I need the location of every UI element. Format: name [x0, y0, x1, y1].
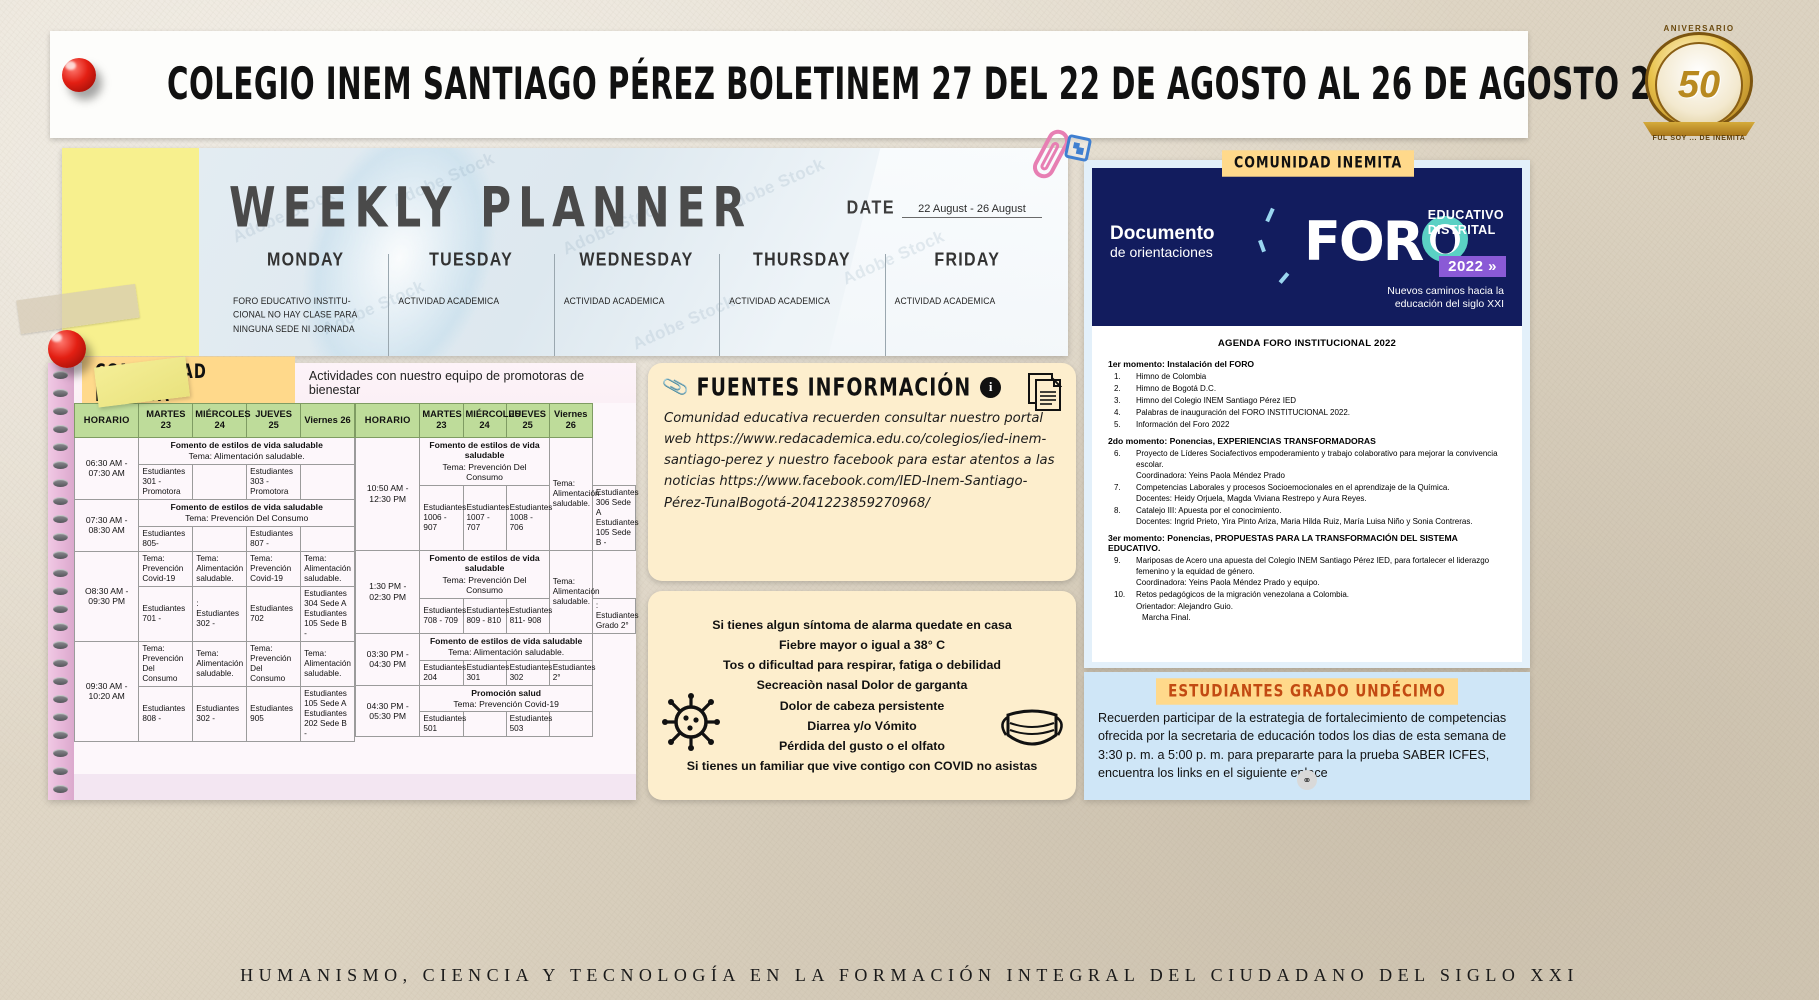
planner-day-thursday: THURSDAYACTIVIDAD ACADEMICA	[719, 252, 884, 331]
day-name: THURSDAY	[729, 251, 874, 272]
pushpin-icon	[62, 58, 96, 92]
students-cell: Estudiantes 302	[506, 660, 549, 685]
fuentes-title: FUENTES INFORMACIÓN	[697, 373, 972, 401]
table-row: 06:30 AM - 07:30 AMFomento de estilos de…	[75, 437, 355, 464]
activity-cell: Fomento de estilos de vida saludableTema…	[139, 499, 355, 526]
momento-3-list: 9.Mariposas de Acero una apuesta del Col…	[1108, 555, 1506, 611]
sintomas-list: Si tienes algun síntoma de alarma quedat…	[687, 615, 1037, 776]
students-cell: Estudiantes 805-	[139, 526, 193, 551]
students-cell	[463, 712, 506, 737]
column-header-2: MIÉRCOLES 24	[193, 404, 247, 438]
schedule-table-afternoon: HORARIOMARTES 23MIÉRCOLES 24JUEVES 25Vie…	[355, 403, 636, 800]
day-activity: ACTIVIDAD ACADEMICA	[398, 294, 543, 308]
sintoma-line: Dolor de cabeza persistente	[687, 696, 1037, 716]
activity-cell: Fomento de estilos de vida saludableTema…	[420, 633, 592, 660]
agenda-item: 6.Proyecto de Líderes Sociafectivos empo…	[1108, 448, 1506, 481]
agenda-title: AGENDA FORO INSTITUCIONAL 2022	[1108, 338, 1506, 349]
day-name: TUESDAY	[398, 251, 543, 272]
agenda-item: 2.Himno de Bogotá D.C.	[1108, 383, 1506, 394]
students-cell: Estudiantes 1008 - 706	[506, 485, 549, 550]
spiral-ring	[53, 551, 68, 559]
documento-label: Documento	[1110, 224, 1215, 245]
agenda-item: 7.Competencias Laborales y procesos Soci…	[1108, 482, 1506, 504]
time-cell: 09:30 AM - 10:20 AM	[75, 641, 139, 741]
sintoma-line: Si tienes un familiar que vive contigo c…	[687, 756, 1037, 776]
planner-date-field: DATE 22 August - 26 August	[847, 200, 1042, 218]
date-label: DATE	[847, 199, 895, 220]
students-cell: Estudiantes 905	[247, 686, 301, 741]
students-cell: Estudiantes 2°	[549, 660, 592, 685]
activity-cell: Promoción saludTema: Prevención Covid-19	[420, 685, 592, 712]
clip-blue-icon	[1064, 134, 1092, 162]
spiral-ring	[53, 533, 68, 541]
tema-cell: Tema: Alimentación saludable.	[301, 641, 355, 686]
momento-3-heading: 3er momento: Ponencias, PROPUESTAS PARA …	[1108, 533, 1506, 553]
badge-comunidad-inemita-right: COMUNIDAD INEMITA	[1222, 150, 1414, 176]
students-cell: Estudiantes 701 -	[139, 586, 193, 641]
spiral-ring	[53, 515, 68, 523]
agenda-item: 8.Catalejo III: Apuesta por el conocimie…	[1108, 505, 1506, 527]
spiral-ring	[53, 695, 68, 703]
students-cell	[301, 526, 355, 551]
table-row: 03:30 PM - 04:30 PMFomento de estilos de…	[356, 633, 636, 660]
students-cell: Estudiantes 302 -	[193, 686, 247, 741]
spiral-ring	[53, 497, 68, 505]
momento-1-heading: 1er momento: Instalación del FORO	[1108, 359, 1506, 369]
students-cell: Estudiantes 501	[420, 712, 463, 737]
schedule-notebook-card: COMUNIDAD INEMITA Actividades con nuestr…	[48, 363, 636, 800]
tema-cell: Tema: Prevención Covid-19	[247, 551, 301, 586]
students-cell: Estudiantes 304 Sede A Estudiantes 105 S…	[301, 586, 355, 641]
tagline-line1: Nuevos caminos hacia la	[1387, 285, 1504, 297]
tema-cell: Tema: Alimentación saludable.	[549, 550, 592, 633]
day-activity: FORO EDUCATIVO INSTITU- CIONAL NO HAY CL…	[233, 294, 378, 336]
tema-cell: Tema: Alimentación saludable.	[193, 641, 247, 686]
paperclip-icon: 📎	[661, 372, 691, 403]
agenda-closing: Marcha Final.	[1108, 613, 1506, 622]
time-cell: 06:30 AM - 07:30 AM	[75, 437, 139, 499]
time-cell: 1:30 PM - 02:30 PM	[356, 550, 420, 633]
spiral-ring	[53, 371, 68, 379]
students-cell: Estudiantes 1006 - 907	[420, 485, 463, 550]
column-header-4: Viernes 26	[549, 404, 592, 438]
day-activity: ACTIVIDAD ACADEMICA	[564, 294, 709, 308]
fuentes-informacion-card: 📎 FUENTES INFORMACIÓN i Comunidad educat…	[648, 363, 1076, 581]
spiral-ring	[53, 749, 68, 757]
table-row: 09:30 AM - 10:20 AMTema: Prevención Del …	[75, 641, 355, 686]
foro-year-badge: 2022 »	[1439, 256, 1506, 277]
notebook-footer-strip	[74, 774, 636, 800]
momento-2-heading: 2do momento: Ponencias, EXPERIENCIAS TRA…	[1108, 436, 1506, 446]
day-activity: ACTIVIDAD ACADEMICA	[729, 294, 874, 308]
spiral-ring	[53, 713, 68, 721]
planner-day-wednesday: WEDNESDAYACTIVIDAD ACADEMICA	[554, 252, 719, 331]
spiral-binding	[48, 363, 74, 800]
students-cell: Estudiantes 303 - Promotora	[247, 464, 301, 499]
column-header-4: Viernes 26	[301, 404, 355, 438]
students-cell: Estudiantes 301 - Promotora	[139, 464, 193, 499]
seal-top-word: ANIVERSARIO	[1639, 24, 1759, 33]
spiral-ring	[53, 659, 68, 667]
planner-day-monday: MONDAYFORO EDUCATIVO INSTITU- CIONAL NO …	[223, 252, 388, 331]
seal-number: 50	[1678, 64, 1720, 107]
table-row: 07:30 AM - 08:30 AMFomento de estilos de…	[75, 499, 355, 526]
foro-panel: Documento de orientaciones FORO EDUCATIV…	[1084, 160, 1530, 668]
momento-2-list: 6.Proyecto de Líderes Sociafectivos empo…	[1108, 448, 1506, 527]
spiral-ring	[53, 641, 68, 649]
students-cell: Estudiantes 301	[463, 660, 506, 685]
day-name: WEDNESDAY	[564, 251, 709, 272]
students-cell: Estudiantes 708 - 709	[420, 598, 463, 633]
spiral-ring	[53, 731, 68, 739]
column-header-3: JUEVES 25	[506, 404, 549, 438]
sintoma-line: Secreaciòn nasal Dolor de garganta	[687, 675, 1037, 695]
planner-day-friday: FRIDAYACTIVIDAD ACADEMICA	[885, 252, 1050, 331]
spiral-ring	[53, 767, 68, 775]
column-header-3: JUEVES 25	[247, 404, 301, 438]
activity-cell: Fomento de estilos de vida saludableTema…	[139, 437, 355, 464]
tema-cell: Tema: Alimentación saludable.	[549, 437, 592, 550]
students-cell	[193, 464, 247, 499]
students-cell	[193, 526, 247, 551]
planner-day-tuesday: TUESDAYACTIVIDAD ACADEMICA	[388, 252, 553, 331]
spiral-ring	[53, 677, 68, 685]
sintoma-line: Si tienes algun síntoma de alarma quedat…	[687, 615, 1037, 635]
students-cell: Estudiantes 811- 908	[506, 598, 549, 633]
table-row: 1:30 PM - 02:30 PMFomento de estilos de …	[356, 550, 636, 598]
notebook-subtitle: Actividades con nuestro equipo de promot…	[309, 369, 628, 397]
tema-cell: Tema: Alimentación saludable.	[301, 551, 355, 586]
agenda-item: 5.Información del Foro 2022	[1108, 419, 1506, 430]
students-cell: Estudiantes 503	[506, 712, 549, 737]
orientaciones-label: de orientaciones	[1110, 245, 1215, 260]
column-header-1: MARTES 23	[139, 404, 193, 438]
column-header-0: HORARIO	[75, 404, 139, 438]
spiral-ring	[53, 461, 68, 469]
sintoma-line: Diarrea y/o Vómito	[687, 716, 1037, 736]
day-activity: ACTIVIDAD ACADEMICA	[895, 294, 1040, 308]
tema-cell: Tema: Prevención Covid-19	[139, 551, 193, 586]
spiral-ring	[53, 587, 68, 595]
link-icon[interactable]: ⚭	[1297, 770, 1317, 790]
students-cell: Estudiantes 1007 - 707	[463, 485, 506, 550]
day-name: FRIDAY	[895, 251, 1040, 272]
tema-cell: Tema: Prevención Del Consumo	[247, 641, 301, 686]
sintomas-alarma-card: Si tienes algun síntoma de alarma quedat…	[648, 591, 1076, 800]
time-cell: O8:30 AM - 09:30 PM	[75, 551, 139, 641]
tema-cell: Tema: Prevención Del Consumo	[139, 641, 193, 686]
column-header-2: MIÉRCOLES 24	[463, 404, 506, 438]
students-cell: Estudiantes 306 Sede A Estudiantes 105 S…	[592, 485, 635, 550]
badge-estudiantes-undecimo: ESTUDIANTES GRADO UNDÉCIMO	[1156, 678, 1458, 704]
time-cell: 10:50 AM - 12:30 PM	[356, 437, 420, 550]
foro-tagline: Nuevos caminos hacia la educación del si…	[1387, 285, 1504, 312]
students-cell: : Estudiantes 302 -	[193, 586, 247, 641]
activity-cell: Fomento de estilos de vida saludableTema…	[420, 437, 549, 485]
students-cell: Estudiantes 808 -	[139, 686, 193, 741]
anniversary-seal: 50 ANIVERSARIO FUL SOY ... DE INEMITA	[1639, 26, 1759, 144]
agenda-item: 1.Himno de Colombia	[1108, 371, 1506, 382]
document-icon	[1028, 373, 1062, 411]
foro-banner: Documento de orientaciones FORO EDUCATIV…	[1092, 168, 1522, 326]
spiral-ring	[53, 443, 68, 451]
seal-bottom-word: FUL SOY ... DE INEMITA	[1639, 135, 1759, 142]
table-row: 04:30 PM - 05:30 PMPromoción saludTema: …	[356, 685, 636, 712]
day-name: MONDAY	[233, 251, 378, 272]
sintoma-line: Pérdida del gusto o el olfato	[687, 736, 1037, 756]
time-cell: 07:30 AM - 08:30 AM	[75, 499, 139, 551]
sintoma-line: Tos o dificultad para respirar, fatiga o…	[687, 655, 1037, 675]
spiral-ring	[53, 407, 68, 415]
planner-title: WEEKLY PLANNER	[229, 176, 752, 241]
table-row: 10:50 AM - 12:30 PMFomento de estilos de…	[356, 437, 636, 485]
spiral-ring	[53, 623, 68, 631]
weekly-planner: Adobe Stock Adobe Stock Adobe Stock Adob…	[199, 148, 1068, 356]
column-header-1: MARTES 23	[420, 404, 463, 438]
weekly-planner-card: Adobe Stock Adobe Stock Adobe Stock Adob…	[62, 148, 1068, 356]
pushpin-icon	[48, 330, 86, 368]
students-cell: Estudiantes 105 Sede A Estudiantes 202 S…	[301, 686, 355, 741]
spiral-ring	[53, 785, 68, 793]
students-cell	[301, 464, 355, 499]
schedule-table-morning: HORARIOMARTES 23MIÉRCOLES 24JUEVES 25Vie…	[74, 403, 355, 800]
agenda-item: 4.Palabras de inauguración del FORO INST…	[1108, 407, 1506, 418]
foro-educativo-distrital: EDUCATIVO DISTRITAL	[1428, 208, 1504, 239]
spiral-ring	[53, 425, 68, 433]
table-row: O8:30 AM - 09:30 PMTema: Prevención Covi…	[75, 551, 355, 586]
page-title: COLEGIO INEM SANTIAGO PÉREZ BOLETINEM 27…	[167, 59, 1714, 110]
tema-cell: Tema: Alimentación saludable.	[193, 551, 247, 586]
agenda-item: 3.Himno del Colegio INEM Santiago Pérez …	[1108, 395, 1506, 406]
distrital-label: DISTRITAL	[1428, 223, 1504, 238]
spiral-ring	[53, 479, 68, 487]
students-cell: : Estudiantes Grado 2°	[592, 598, 635, 633]
agenda-item: 10.Retos pedagógicos de la migración ven…	[1108, 589, 1506, 611]
planner-days-row: MONDAYFORO EDUCATIVO INSTITU- CIONAL NO …	[223, 252, 1050, 331]
students-cell: Estudiantes 204	[420, 660, 463, 685]
agenda-item: 9.Mariposas de Acero una apuesta del Col…	[1108, 555, 1506, 588]
spiral-ring	[53, 605, 68, 613]
time-cell: 04:30 PM - 05:30 PM	[356, 685, 420, 737]
date-value: 22 August - 26 August	[902, 203, 1042, 218]
agenda-content: AGENDA FORO INSTITUCIONAL 2022 1er momen…	[1092, 326, 1522, 662]
estudiantes-undecimo-card: ESTUDIANTES GRADO UNDÉCIMO Recuerden par…	[1084, 672, 1530, 800]
students-cell	[549, 712, 592, 737]
footer-motto: HUMANISMO, CIENCIA Y TECNOLOGÍA EN LA FO…	[0, 965, 1819, 986]
time-cell: 03:30 PM - 04:30 PM	[356, 633, 420, 685]
students-cell: Estudiantes 702	[247, 586, 301, 641]
column-header-0: HORARIO	[356, 404, 420, 438]
spiral-ring	[53, 389, 68, 397]
sintoma-line: Fiebre mayor o igual a 38° C	[687, 635, 1037, 655]
title-banner: COLEGIO INEM SANTIAGO PÉREZ BOLETINEM 27…	[50, 31, 1528, 138]
fuentes-body: Comunidad educativa recuerden consultar …	[664, 408, 1060, 514]
students-cell: Estudiantes 807 -	[247, 526, 301, 551]
spiral-ring	[53, 569, 68, 577]
activity-cell: Fomento de estilos de vida saludableTema…	[420, 550, 549, 598]
info-icon: i	[980, 377, 1001, 398]
students-cell: Estudiantes 809 - 810	[463, 598, 506, 633]
momento-1-list: 1.Himno de Colombia2.Himno de Bogotá D.C…	[1108, 371, 1506, 430]
educativo-label: EDUCATIVO	[1428, 208, 1504, 223]
tagline-line2: educación del siglo XXI	[1395, 298, 1504, 310]
